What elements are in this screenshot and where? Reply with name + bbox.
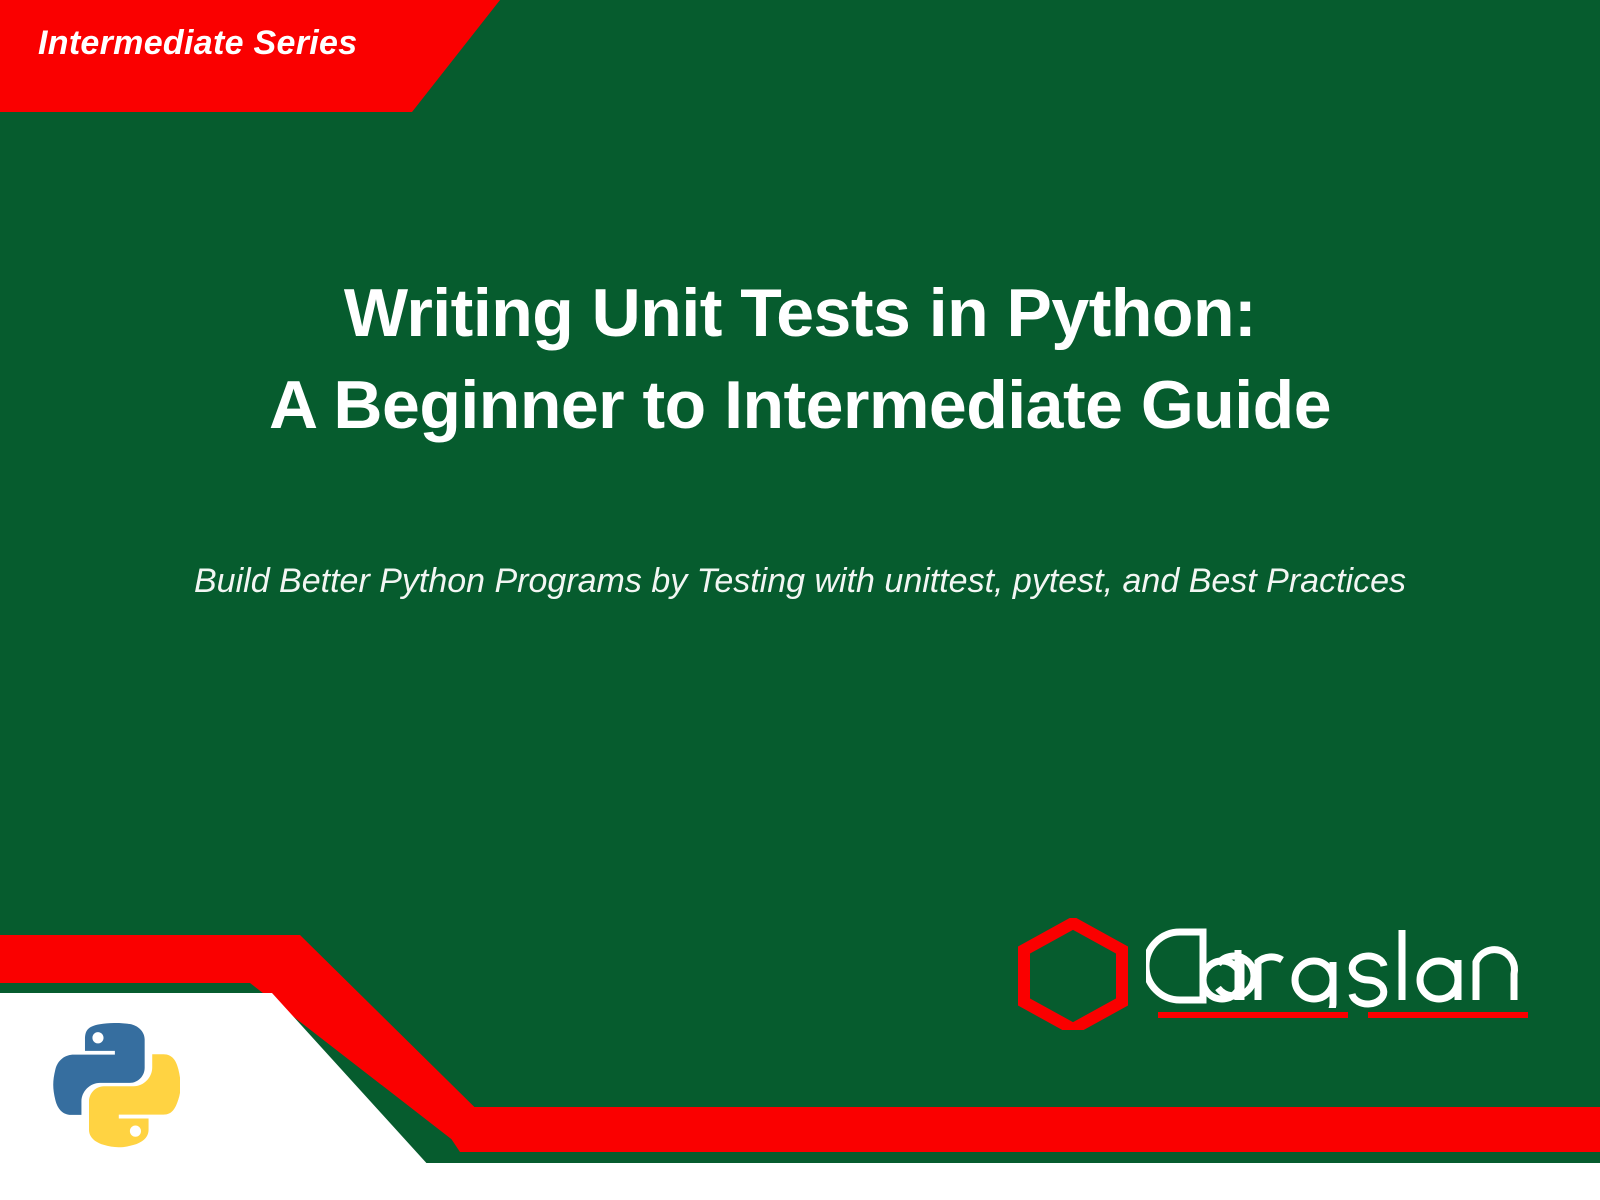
page-title-line-1: Writing Unit Tests in Python: <box>0 268 1600 360</box>
hexagon-icon <box>1018 918 1128 1030</box>
python-logo-icon <box>50 1018 180 1148</box>
page-subtitle: Build Better Python Programs by Testing … <box>0 562 1600 601</box>
brand-logo <box>1018 916 1538 1028</box>
brand-name-wordmark <box>1146 924 1546 1008</box>
series-ribbon: Intermediate Series <box>0 0 560 130</box>
page-title: Writing Unit Tests in Python: A Beginner… <box>0 268 1600 452</box>
brand-rule-right <box>1368 1012 1528 1018</box>
slide-canvas: Intermediate Series Writing Unit Tests i… <box>0 0 1600 1200</box>
page-title-line-2: A Beginner to Intermediate Guide <box>0 360 1600 452</box>
series-ribbon-label: Intermediate Series <box>38 24 357 63</box>
brand-rule-left <box>1158 1012 1348 1018</box>
